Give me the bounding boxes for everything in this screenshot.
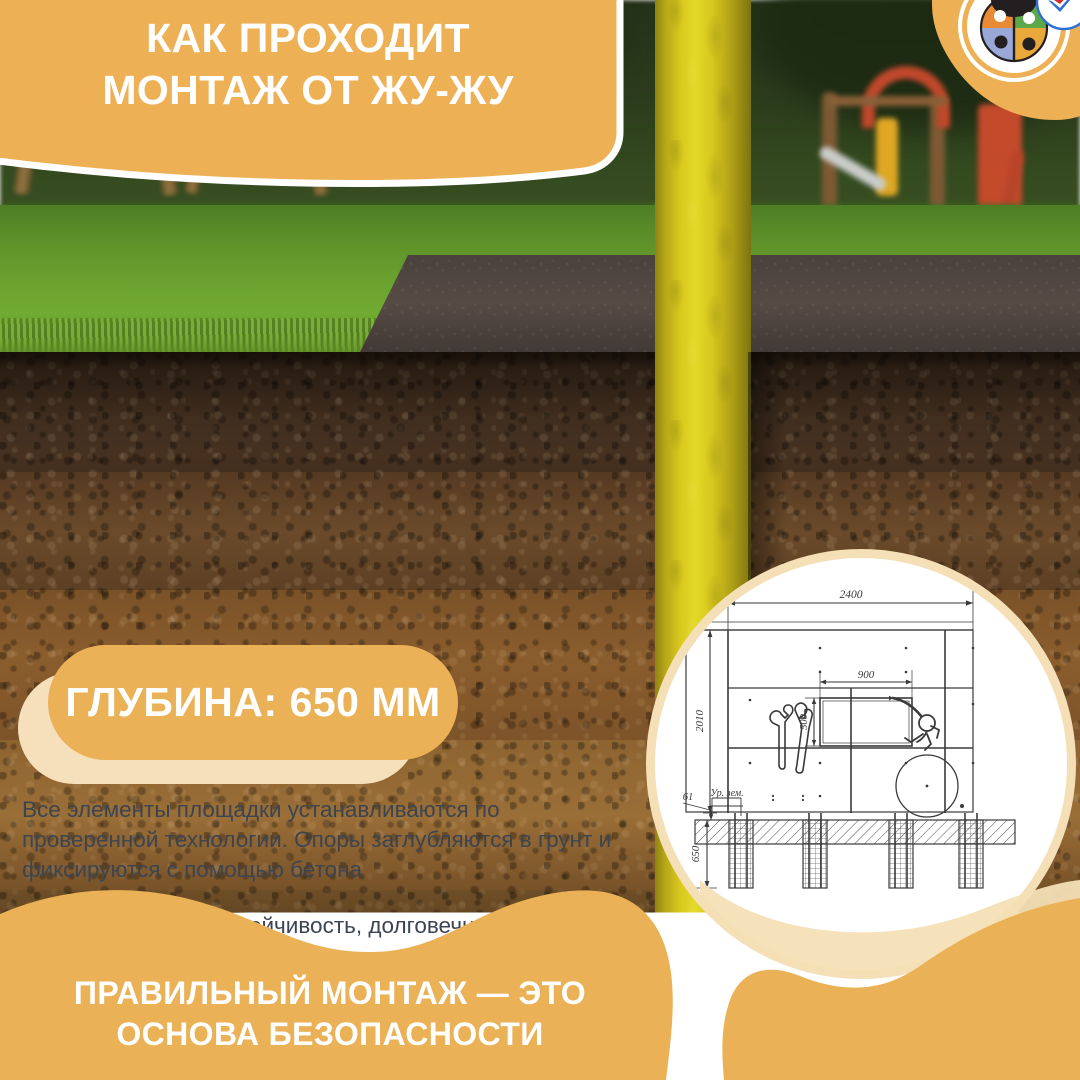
depth-badge: ГЛУБИНА: 650 ММ [48, 645, 458, 760]
poster-canvas: КАК ПРОХОДИТ МОНТАЖ ОТ ЖУ-ЖУ [0, 0, 1080, 1080]
body-paragraph-1: Все элементы площадки устанавливаются по… [22, 795, 632, 885]
footer-title-line1: ПРАВИЛЬНЫЙ МОНТАЖ — ЭТО [30, 973, 630, 1015]
dim-depth: 650 [690, 845, 702, 862]
page-title: КАК ПРОХОДИТ МОНТАЖ ОТ ЖУ-ЖУ [0, 12, 616, 117]
dim-total-width: 2400 [840, 589, 863, 601]
footer-title-line2: ОСНОВА БЕЗОПАСНОСТИ [30, 1014, 630, 1056]
foundation-pile [959, 813, 983, 888]
dim-ground-offset: 61 [683, 792, 694, 803]
header-title-line2: МОНТАЖ ОТ ЖУ-ЖУ [0, 64, 616, 116]
wrench-icon [770, 705, 793, 769]
depth-badge-label: ГЛУБИНА: 650 ММ [65, 679, 440, 726]
soil-top-edge-shadow [0, 352, 1080, 368]
footer-title: ПРАВИЛЬНЫЙ МОНТАЖ — ЭТО ОСНОВА БЕЗОПАСНО… [30, 973, 630, 1056]
pipe-wrench-icon [795, 703, 812, 773]
dim-total-height: 2010 [694, 710, 706, 733]
header-title-line1: КАК ПРОХОДИТ [0, 12, 616, 64]
foundation-pile [889, 813, 913, 888]
foundation-pile [803, 813, 827, 888]
climbing-person-icon [889, 696, 939, 750]
dim-panel-width: 900 [858, 669, 875, 681]
ground-level-label: Ур. зем. [710, 788, 743, 799]
foundation-pile [729, 813, 753, 888]
logo-badge[interactable] [930, 0, 1080, 130]
